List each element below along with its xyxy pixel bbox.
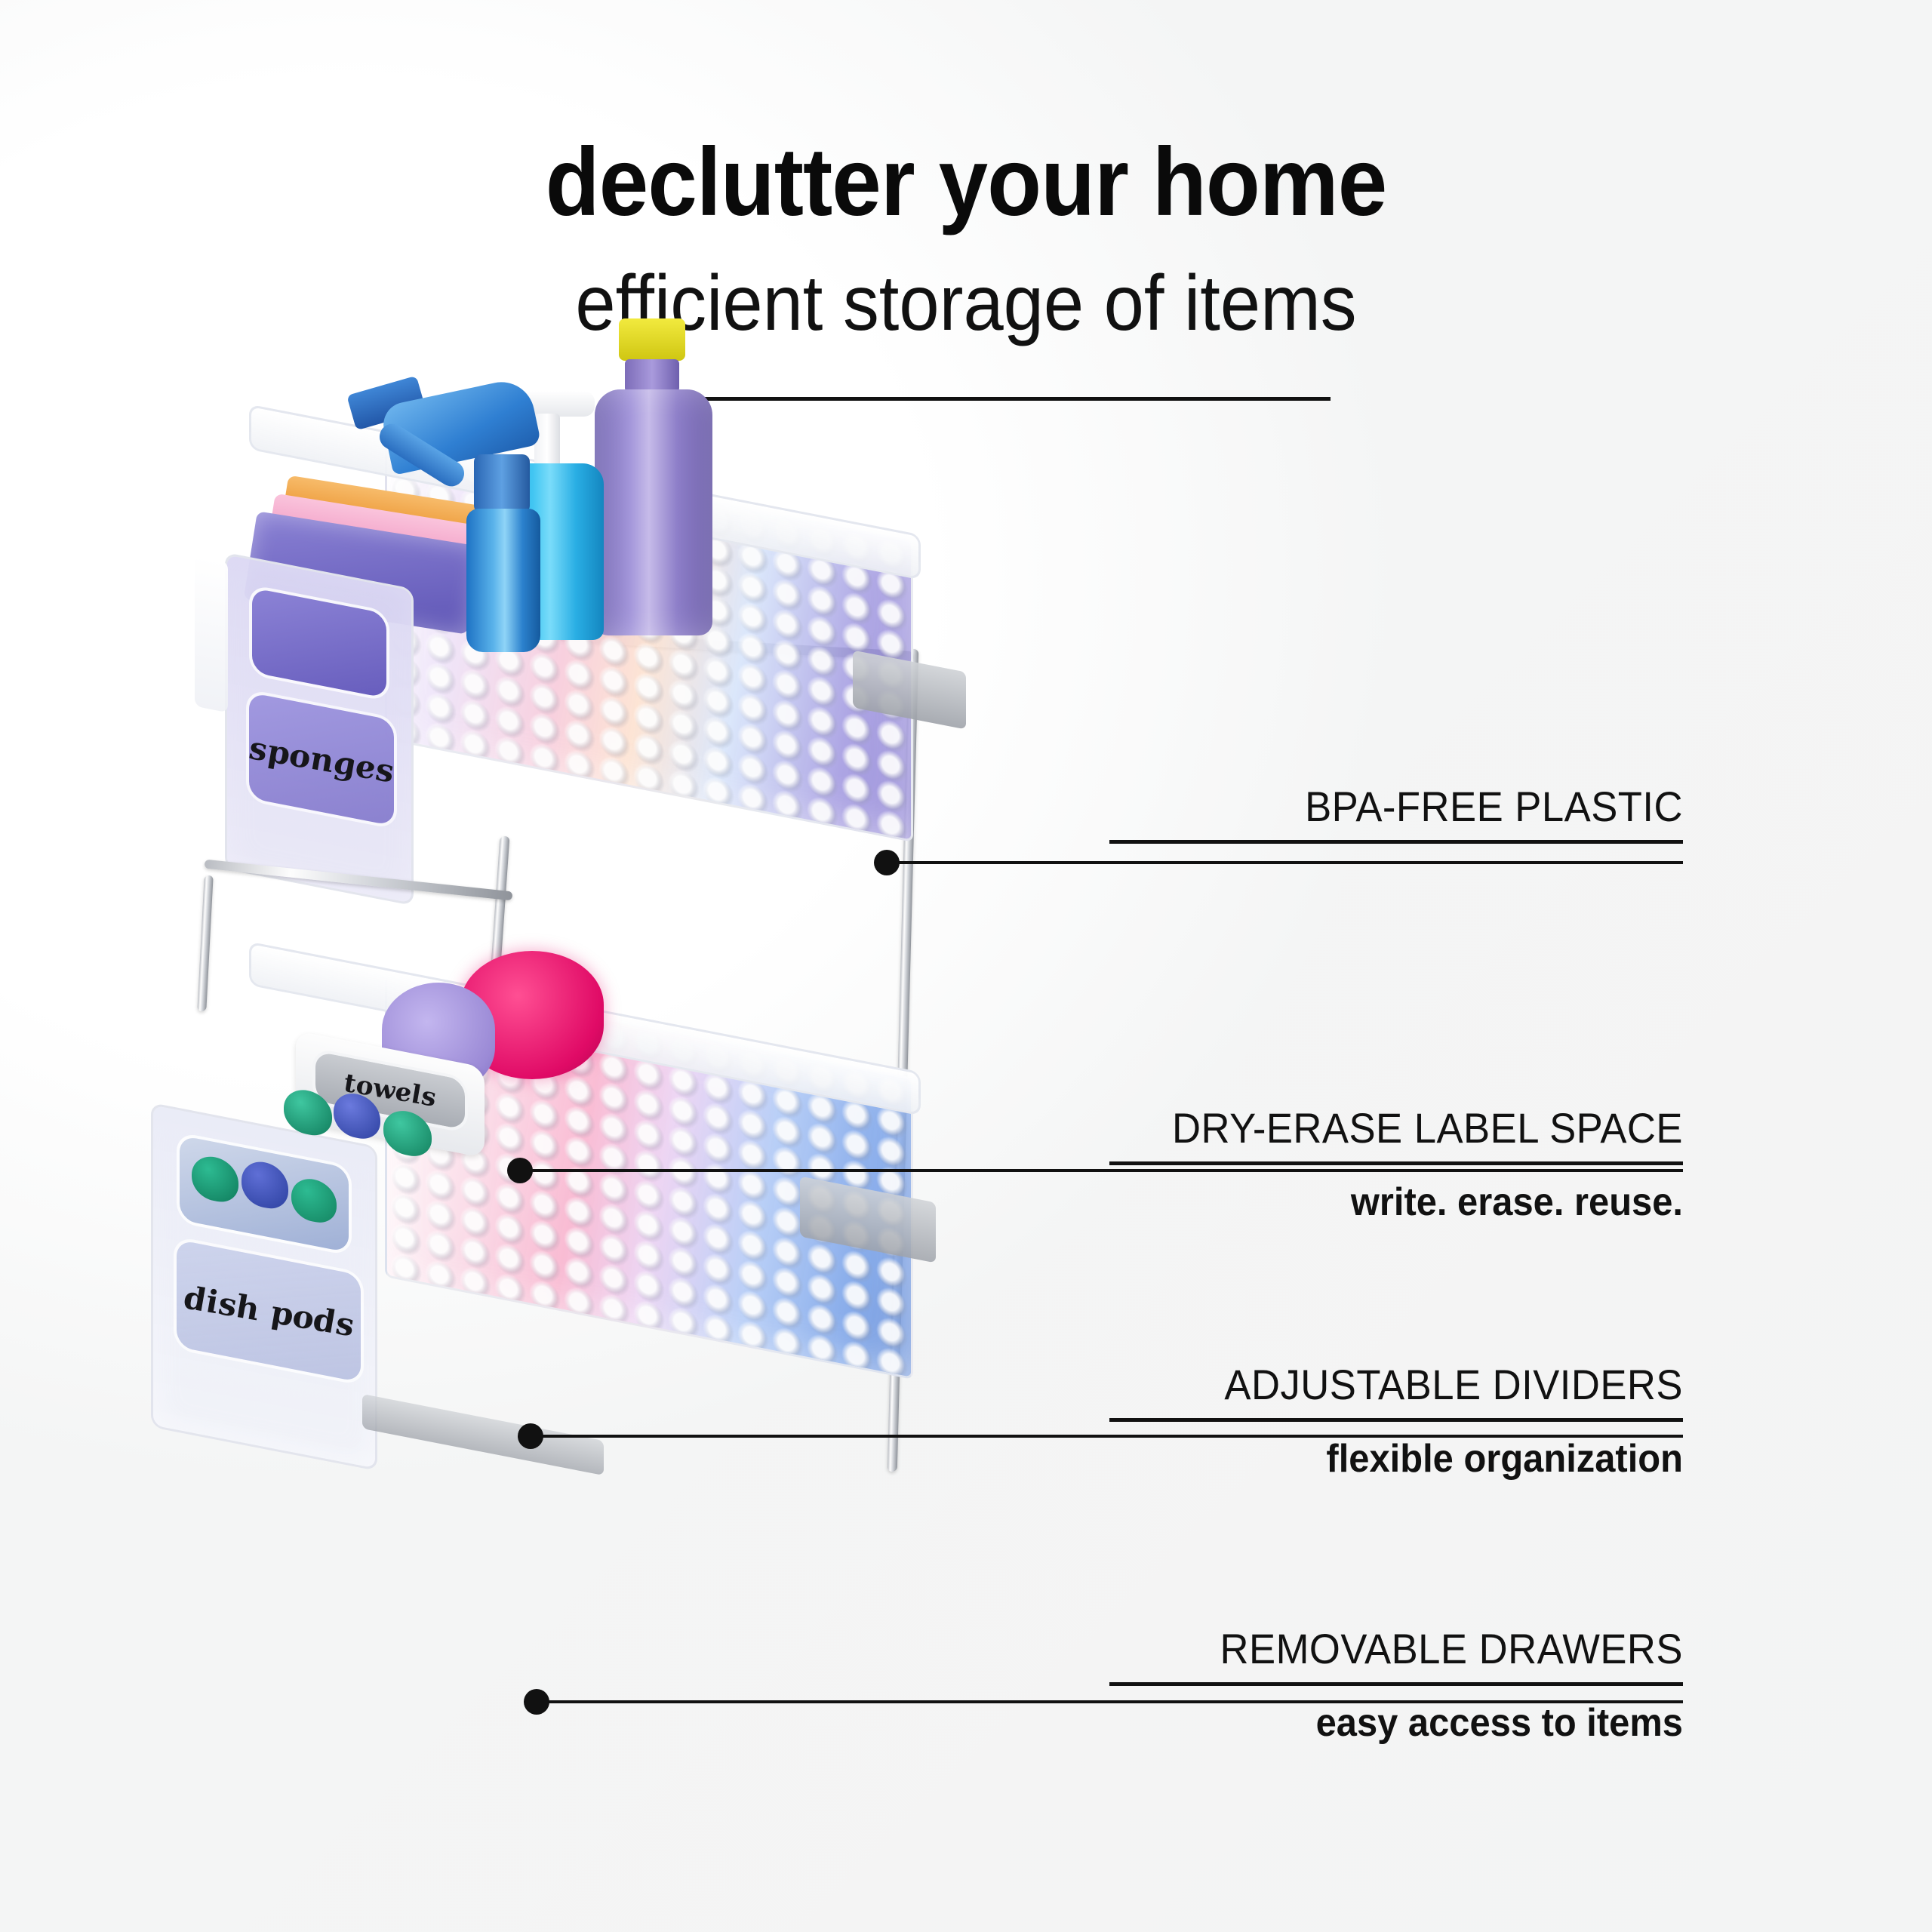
callout-rule bbox=[1109, 1682, 1683, 1686]
leader-dot-bpa-free bbox=[874, 850, 900, 875]
callout-dry-erase: DRY-ERASE LABEL SPACE write. erase. reus… bbox=[1109, 1106, 1683, 1223]
detergent-pod bbox=[334, 1090, 380, 1143]
leader-line-bpa-free bbox=[897, 861, 1683, 864]
purple-bottle-cap bbox=[619, 318, 685, 361]
detergent-pod bbox=[284, 1086, 332, 1139]
detergent-pod bbox=[241, 1158, 288, 1212]
purple-bottle-neck bbox=[625, 359, 679, 392]
callout-subtitle: flexible organization bbox=[1144, 1438, 1683, 1480]
label-text-dish-pods: dish pods bbox=[183, 1278, 354, 1344]
purple-bottle bbox=[589, 318, 717, 635]
callout-subtitle: easy access to items bbox=[1144, 1703, 1683, 1744]
product-photo: sponges towels bbox=[136, 423, 1147, 1841]
callout-removable-drawers: REMOVABLE DRAWERS easy access to items bbox=[1109, 1627, 1683, 1743]
detergent-pod bbox=[192, 1152, 238, 1205]
spray-bottle bbox=[341, 373, 560, 652]
callout-subtitle: write. erase. reuse. bbox=[1144, 1182, 1683, 1223]
upper-bin-side-lip bbox=[195, 555, 228, 713]
callout-rule bbox=[1109, 1161, 1683, 1165]
callout-title: BPA-FREE PLASTIC bbox=[1144, 785, 1683, 829]
spray-bottle-body bbox=[466, 509, 540, 652]
callout-rule bbox=[1109, 840, 1683, 844]
label-text-sponges: sponges bbox=[249, 728, 395, 789]
callout-adjustable-dividers: ADJUSTABLE DIVIDERS flexible organizatio… bbox=[1109, 1363, 1683, 1479]
detergent-pod bbox=[291, 1175, 337, 1226]
callout-rule bbox=[1109, 1418, 1683, 1422]
chrome-frame-left-post bbox=[197, 875, 213, 1011]
callout-bpa-free: BPA-FREE PLASTIC bbox=[1109, 785, 1683, 844]
callout-title: REMOVABLE DRAWERS bbox=[1144, 1627, 1683, 1672]
page-title: declutter your home bbox=[77, 134, 1854, 231]
detergent-pod bbox=[383, 1107, 432, 1160]
purple-bottle-body bbox=[595, 389, 712, 635]
callout-title: DRY-ERASE LABEL SPACE bbox=[1144, 1106, 1683, 1151]
header: declutter your home efficient storage of… bbox=[0, 0, 1932, 401]
callout-title: ADJUSTABLE DIVIDERS bbox=[1144, 1363, 1683, 1407]
page-subtitle: efficient storage of items bbox=[77, 264, 1854, 343]
spray-bottle-collar bbox=[474, 454, 530, 513]
